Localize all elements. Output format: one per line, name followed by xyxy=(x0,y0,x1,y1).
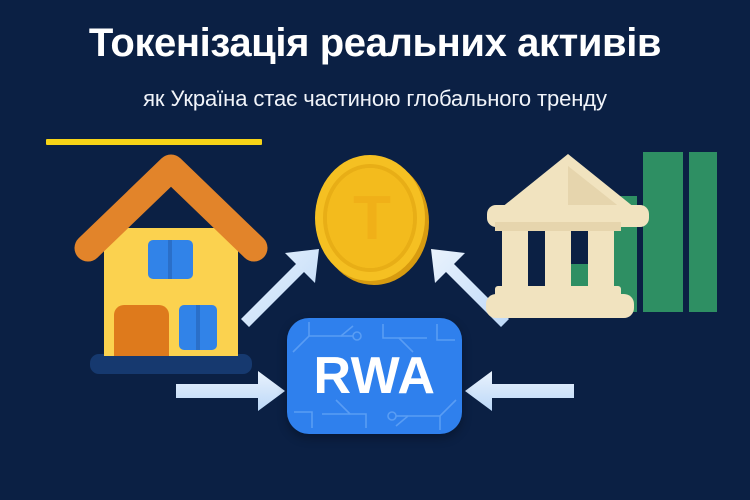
rwa-badge[interactable]: RWA xyxy=(287,318,462,434)
bank-column xyxy=(502,227,528,290)
bank-column xyxy=(588,227,614,290)
rwa-label: RWA xyxy=(287,318,462,434)
bank-column xyxy=(545,227,571,290)
bank-plinth xyxy=(486,294,634,318)
infographic-canvas: Токенізація реальних активів як Україна … xyxy=(0,0,750,500)
bank-entablature xyxy=(495,222,621,231)
